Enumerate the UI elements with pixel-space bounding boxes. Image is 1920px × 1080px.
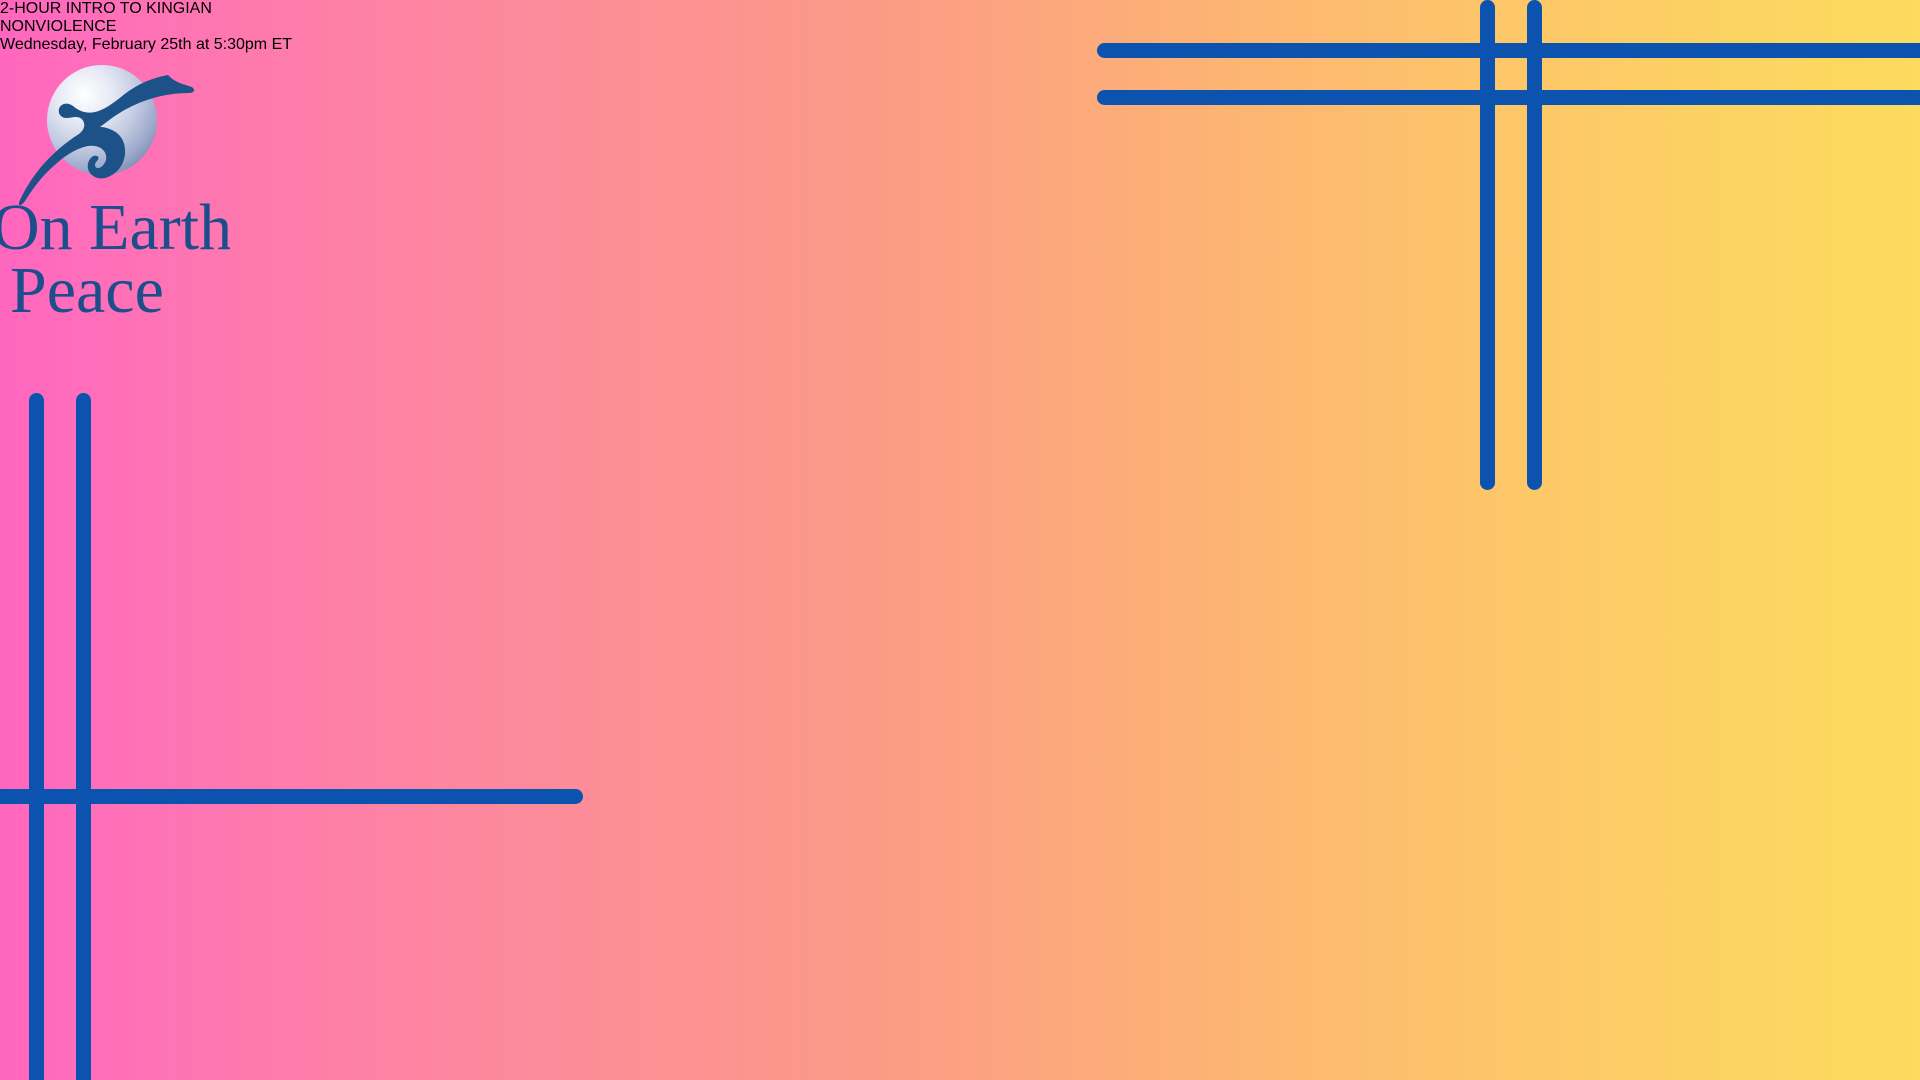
decor-bar-bottom-left-vertical-1 bbox=[29, 393, 44, 1080]
headline-line-1: 2-HOUR INTRO TO KINGIAN bbox=[0, 0, 1920, 18]
decor-bar-bottom-left-horizontal-1 bbox=[0, 789, 583, 804]
decor-bar-top-right-vertical-1 bbox=[1480, 0, 1495, 490]
promo-poster: 2-HOUR INTRO TO KINGIAN NONVIOLENCE Wedn… bbox=[0, 0, 1920, 1080]
decor-bar-top-right-horizontal-1 bbox=[1097, 43, 1920, 58]
decor-bar-bottom-left-vertical-2 bbox=[76, 393, 91, 1080]
headline-line-2: NONVIOLENCE bbox=[0, 18, 1920, 36]
headline: 2-HOUR INTRO TO KINGIAN NONVIOLENCE bbox=[0, 0, 1920, 36]
logo-text-line-2: Peace bbox=[10, 254, 164, 322]
decor-bar-top-right-horizontal-2 bbox=[1097, 90, 1920, 105]
decor-bar-top-right-vertical-2 bbox=[1527, 0, 1542, 490]
